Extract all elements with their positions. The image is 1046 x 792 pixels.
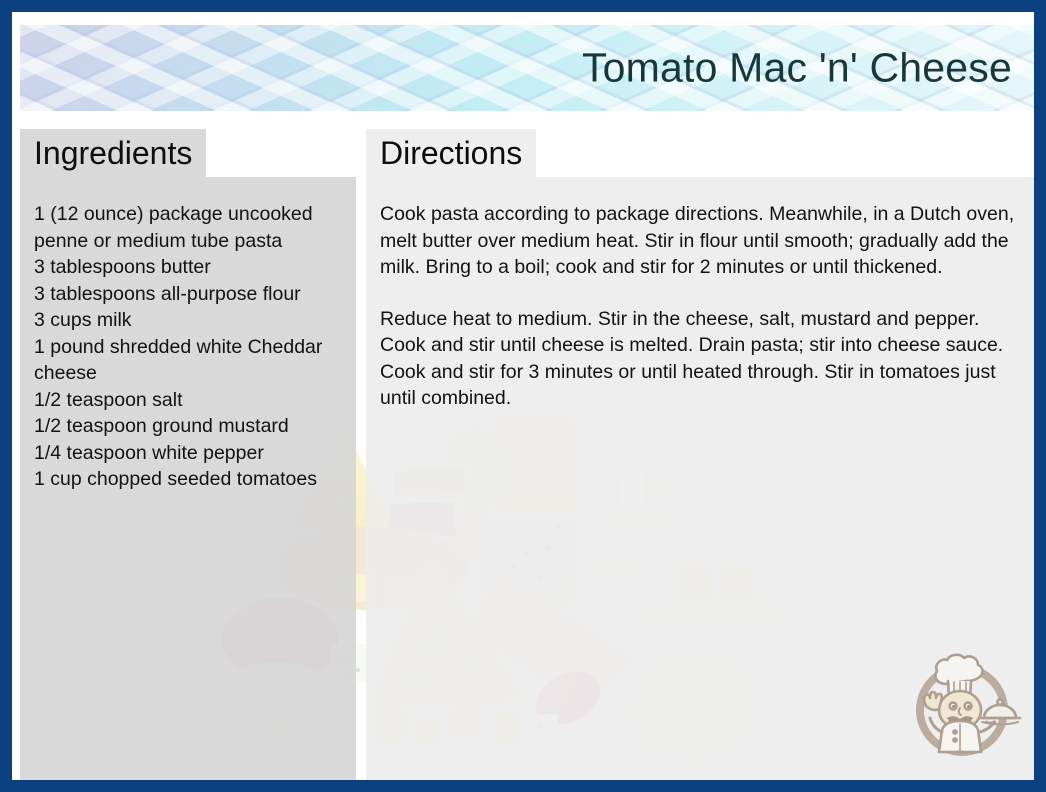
list-item: 1 cup chopped seeded tomatoes (34, 466, 342, 493)
ingredients-panel: Ingredients 1 (12 ounce) package uncooke… (20, 129, 356, 784)
directions-panel: Directions Cook pasta according to packa… (366, 129, 1034, 784)
list-item: 3 tablespoons all-purpose flour (34, 281, 342, 308)
direction-paragraph: Reduce heat to medium. Stir in the chees… (380, 306, 1020, 412)
directions-heading: Directions (380, 137, 522, 169)
list-item: 3 tablespoons butter (34, 254, 342, 281)
directions-text: Cook pasta according to package directio… (366, 177, 1034, 784)
title-banner: Tomato Mac 'n' Cheese (20, 25, 1034, 111)
list-item: 1 (12 ounce) package uncooked penne or m… (34, 201, 342, 254)
recipe-slide: Tomato Mac 'n' Cheese Ingredients 1 (12 … (0, 0, 1046, 792)
page-title: Tomato Mac 'n' Cheese (582, 45, 1012, 92)
list-item: 1/2 teaspoon salt (34, 387, 342, 414)
ingredients-heading: Ingredients (34, 137, 192, 169)
ingredients-list: 1 (12 ounce) package uncooked penne or m… (20, 177, 356, 784)
list-item: 1 pound shredded white Cheddar cheese (34, 334, 342, 387)
list-item: 3 cups milk (34, 307, 342, 334)
ingredients-tab: Ingredients (20, 129, 206, 177)
direction-paragraph: Cook pasta according to package directio… (380, 201, 1020, 281)
list-item: 1/4 teaspoon white pepper (34, 440, 342, 467)
list-item: 1/2 teaspoon ground mustard (34, 413, 342, 440)
directions-tab: Directions (366, 129, 536, 177)
